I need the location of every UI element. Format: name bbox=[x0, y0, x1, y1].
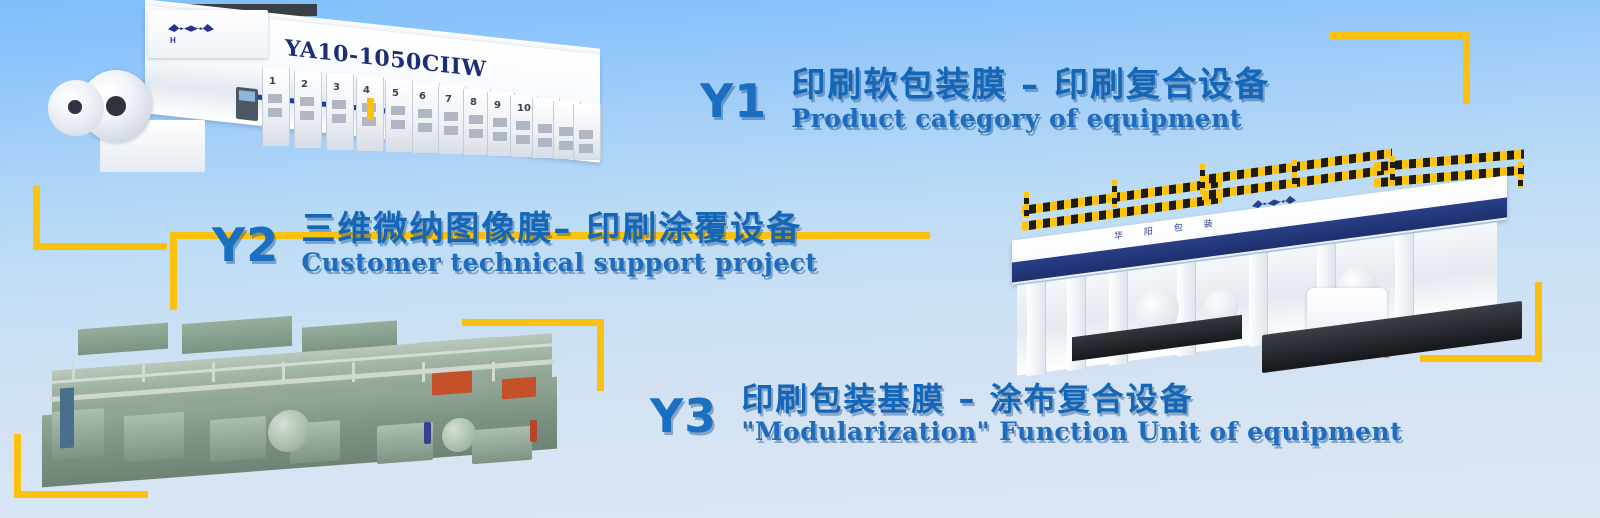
entry-cn-y2: 三维微纳图像膜– 印刷涂覆设备 bbox=[301, 212, 817, 248]
entry-en-y2: Customer technical support project bbox=[301, 250, 817, 276]
coating-rail-post bbox=[352, 362, 355, 382]
coating-rail-post bbox=[142, 362, 145, 382]
railing-post bbox=[1112, 180, 1117, 208]
press-station-number: 6 bbox=[419, 91, 426, 102]
entry-y2: Y2 三维微纳图像膜– 印刷涂覆设备 Customer technical su… bbox=[212, 212, 817, 276]
coating-rail-post bbox=[492, 362, 495, 382]
coating-rail-post bbox=[422, 362, 425, 382]
coating-red-part bbox=[502, 377, 536, 400]
press-rewind-roll bbox=[48, 80, 104, 136]
entry-y3: Y3 印刷包装基膜 – 涂布复合设备 "Modularization" Func… bbox=[650, 383, 1402, 445]
entry-en-y1: Product category of equipment bbox=[791, 106, 1270, 132]
railing-post bbox=[1390, 156, 1395, 182]
entry-y1: Y1 印刷软包装膜 – 印刷复合设备 Product category of e… bbox=[700, 68, 1270, 132]
railing-post bbox=[1292, 160, 1297, 188]
press-station-number: 7 bbox=[445, 94, 452, 105]
coating-unit bbox=[472, 426, 532, 465]
entry-code-y2: Y2 bbox=[212, 222, 279, 268]
entry-cn-y1: 印刷软包装膜 – 印刷复合设备 bbox=[791, 68, 1270, 104]
press-station-number: 9 bbox=[494, 100, 501, 111]
press-station-number: 5 bbox=[392, 88, 399, 99]
entry-code-y3: Y3 bbox=[650, 393, 717, 439]
coating-oven-hood bbox=[78, 323, 168, 356]
entry-en-y3: "Modularization" Function Unit of equipm… bbox=[741, 419, 1402, 445]
coating-rail-post bbox=[282, 362, 285, 382]
coating-blue-part bbox=[60, 387, 74, 448]
laminator-column bbox=[1249, 253, 1268, 348]
laminator-column bbox=[1027, 282, 1046, 377]
railing-post bbox=[1024, 192, 1029, 218]
press-station: 5 bbox=[385, 80, 413, 152]
hy-logo-icon: H bbox=[168, 24, 214, 46]
hy-logo-letters: H bbox=[170, 36, 196, 45]
press-station-number: 2 bbox=[301, 79, 308, 90]
press-station-number: 8 bbox=[470, 97, 477, 108]
product-category-banner: H YA10-1050CIIW 1 2 3 4 5 6 7 8 9 10 bbox=[0, 0, 1600, 518]
press-station: 7 bbox=[438, 86, 466, 154]
press-station-number: 4 bbox=[363, 85, 370, 96]
coating-rail-post bbox=[212, 362, 215, 382]
laminator-image: 华 阳 包 装 YATF6-1650BII bbox=[962, 150, 1562, 375]
entry-cn-y3: 印刷包装基膜 – 涂布复合设备 bbox=[741, 383, 1402, 417]
press-station-number: 3 bbox=[333, 82, 340, 93]
press-control-panel bbox=[236, 87, 258, 121]
press-station: 3 bbox=[326, 74, 354, 150]
entry-code-y1: Y1 bbox=[700, 78, 767, 124]
coating-line-image bbox=[32, 318, 577, 483]
coating-red-part bbox=[432, 370, 472, 395]
press-station-number: 10 bbox=[517, 103, 531, 114]
press-station bbox=[573, 104, 601, 160]
coating-unit bbox=[210, 416, 266, 462]
railing-post bbox=[1200, 164, 1205, 194]
corner-bracket-a bbox=[33, 186, 167, 250]
worker-figure bbox=[424, 422, 431, 444]
coating-rail-post bbox=[72, 362, 75, 382]
press-station: 1 bbox=[262, 68, 290, 146]
press-color-stations: 1 2 3 4 5 6 7 8 9 10 bbox=[262, 62, 602, 152]
laminator-column bbox=[1395, 233, 1414, 328]
corner-bracket-c bbox=[1330, 32, 1470, 104]
press-station: 6 bbox=[412, 83, 440, 153]
railing-post bbox=[1518, 162, 1523, 188]
press-yellow-marker bbox=[367, 98, 374, 121]
worker-figure bbox=[530, 420, 537, 442]
coating-oven-hood bbox=[182, 316, 292, 354]
gravure-press-image: H YA10-1050CIIW 1 2 3 4 5 6 7 8 9 10 bbox=[40, 2, 600, 177]
coating-unit bbox=[124, 412, 184, 463]
press-station: 2 bbox=[294, 71, 322, 148]
press-station-number: 1 bbox=[269, 76, 276, 87]
